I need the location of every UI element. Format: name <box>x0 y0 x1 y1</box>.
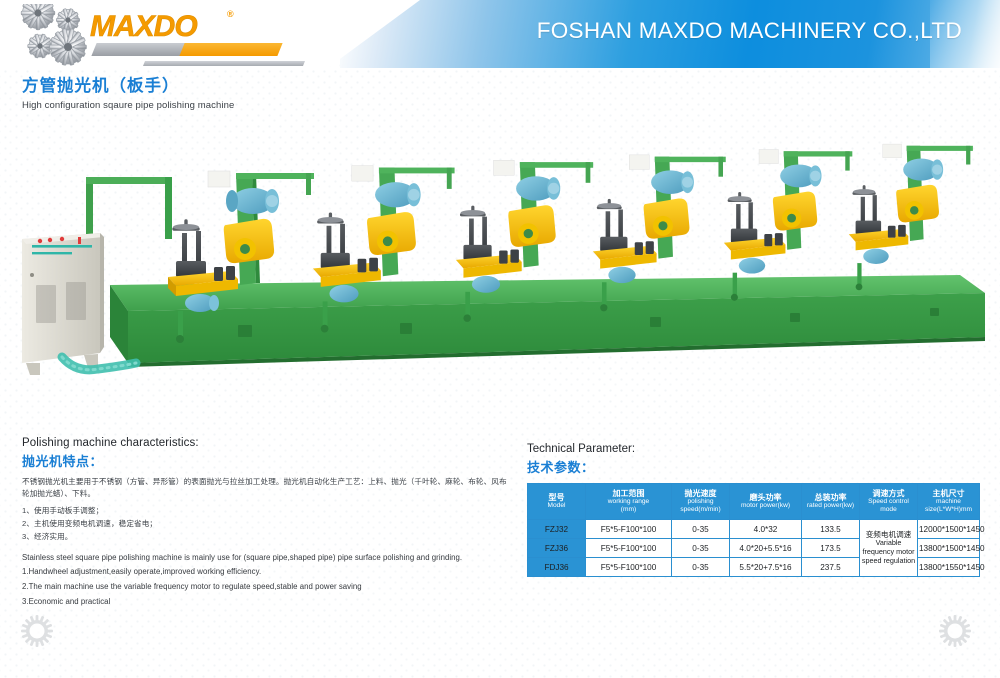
cell-rated-power: 133.5 <box>802 520 860 539</box>
column-header-motor-power: 磨头功率 motor power(kw) <box>730 484 802 520</box>
logo-orange-bar <box>179 43 282 56</box>
cell-polishing-speed: 0-35 <box>672 558 730 577</box>
column-header-en: rated power(kw) <box>803 502 858 510</box>
column-header-en: Speed control <box>861 498 916 506</box>
column-header-working-range: 加工范围 working range (mm) <box>586 484 672 520</box>
column-header-speed-control: 调速方式 Speed control mode <box>860 484 918 520</box>
company-name: FOSHAN MAXDO MACHINERY CO.,LTD <box>537 18 962 44</box>
list-item: 2.The main machine use the variable freq… <box>22 579 512 594</box>
specification-table: 型号 Model 加工范围 working range (mm) 抛光速度 po… <box>527 483 980 577</box>
cell-speed-control: 变频电机调速 Variable frequency motor speed re… <box>860 520 918 577</box>
product-title-block: 方管抛光机（板手） High configuration sqaure pipe… <box>22 76 234 111</box>
table-header-row: 型号 Model 加工范围 working range (mm) 抛光速度 po… <box>528 484 980 520</box>
gears-icon <box>16 4 90 66</box>
cell-working-range: F5*5-F100*100 <box>586 539 672 558</box>
technical-parameter-section: Technical Parameter: 技术参数： 型号 Model 加工范围… <box>527 443 979 577</box>
characteristics-paragraph-en: Stainless steel square pipe polishing ma… <box>22 552 512 564</box>
gear-watermark-icon <box>938 614 972 648</box>
cell-machine-size: 12000*1500*1450 <box>918 520 980 539</box>
cell-polishing-speed: 0-35 <box>672 539 730 558</box>
column-header-cn: 加工范围 <box>587 489 670 498</box>
technical-heading-en: Technical Parameter: <box>527 443 979 455</box>
column-header-en2: mode <box>861 506 916 514</box>
list-item: 3.Economic and practical <box>22 594 512 609</box>
characteristics-heading-en: Polishing machine characteristics: <box>22 437 512 449</box>
cell-working-range: F5*5-F100*100 <box>586 558 672 577</box>
registered-trademark-icon: ® <box>227 9 234 19</box>
characteristics-heading-cn: 抛光机特点： <box>22 451 512 470</box>
logo-wordmark: MAXDO <box>90 10 197 44</box>
product-title-cn: 方管抛光机（板手） <box>22 76 234 97</box>
cell-model: FZJ36 <box>528 539 586 558</box>
column-header-cn: 抛光速度 <box>673 489 728 498</box>
characteristics-paragraph-cn: 不锈钢抛光机主要用于不锈钢（方管、异形管）的表面抛光与拉丝加工处理。抛光机自动化… <box>22 476 512 501</box>
page-root: MAXDO ® FOSHAN MAXDO MACHINERY CO.,LTD 方… <box>0 0 1000 678</box>
cell-machine-size: 13800*1500*1450 <box>918 539 980 558</box>
column-header-en: working range <box>587 498 670 506</box>
column-header-cn: 型号 <box>529 493 584 502</box>
column-header-cn: 总装功率 <box>803 493 858 502</box>
column-header-machine-size: 主机尺寸 machine size(L*W*H)mm <box>918 484 980 520</box>
technical-heading-cn: 技术参数： <box>527 457 979 476</box>
column-header-cn: 调速方式 <box>861 489 916 498</box>
cell-motor-power: 4.0*32 <box>730 520 802 539</box>
cell-rated-power: 237.5 <box>802 558 860 577</box>
list-item: 1.Handwheel adjustment,easily operate,im… <box>22 564 512 579</box>
column-header-model: 型号 Model <box>528 484 586 520</box>
machine-illustration <box>0 125 1000 375</box>
company-logo[interactable]: MAXDO ® <box>8 2 268 68</box>
gear-watermark-icon <box>20 614 54 648</box>
characteristics-section: Polishing machine characteristics: 抛光机特点… <box>22 437 512 609</box>
column-header-polishing-speed: 抛光速度 polishing speed(m/min) <box>672 484 730 520</box>
column-header-en: machine size(L*W*H)mm <box>919 498 978 514</box>
column-header-cn: 主机尺寸 <box>919 489 978 498</box>
table-row: FZJ32 F5*5-F100*100 0-35 4.0*32 133.5 变频… <box>528 520 980 539</box>
list-item: 1、使用手动板手调整； <box>22 504 512 517</box>
column-header-en: polishing <box>673 498 728 506</box>
logo-thin-bar <box>143 61 305 66</box>
cell-motor-power: 4.0*20+5.5*16 <box>730 539 802 558</box>
speed-control-en: Variable frequency motor speed regulatio… <box>861 539 916 565</box>
characteristics-list-cn: 1、使用手动板手调整； 2、主机使用变频电机调速，稳定省电； 3、经济实用。 <box>22 504 512 543</box>
cell-rated-power: 173.5 <box>802 539 860 558</box>
page-header: MAXDO ® FOSHAN MAXDO MACHINERY CO.,LTD <box>0 0 1000 68</box>
column-header-en2: speed(m/min) <box>673 506 728 514</box>
column-header-en2: (mm) <box>587 506 670 514</box>
cell-motor-power: 5.5*20+7.5*16 <box>730 558 802 577</box>
characteristics-list-en: 1.Handwheel adjustment,easily operate,im… <box>22 564 512 610</box>
column-header-cn: 磨头功率 <box>731 493 800 502</box>
machine-photo <box>0 125 1000 375</box>
cell-working-range: F5*5-F100*100 <box>586 520 672 539</box>
column-header-rated-power: 总装功率 rated power(kw) <box>802 484 860 520</box>
list-item: 3、经济实用。 <box>22 530 512 543</box>
column-header-en: Model <box>529 502 584 510</box>
cell-model: FZJ32 <box>528 520 586 539</box>
product-title-en: High configuration sqaure pipe polishing… <box>22 100 234 111</box>
cell-machine-size: 13800*1550*1450 <box>918 558 980 577</box>
list-item: 2、主机使用变频电机调速，稳定省电； <box>22 517 512 530</box>
cell-model: FDJ36 <box>528 558 586 577</box>
column-header-en: motor power(kw) <box>731 502 800 510</box>
cell-polishing-speed: 0-35 <box>672 520 730 539</box>
